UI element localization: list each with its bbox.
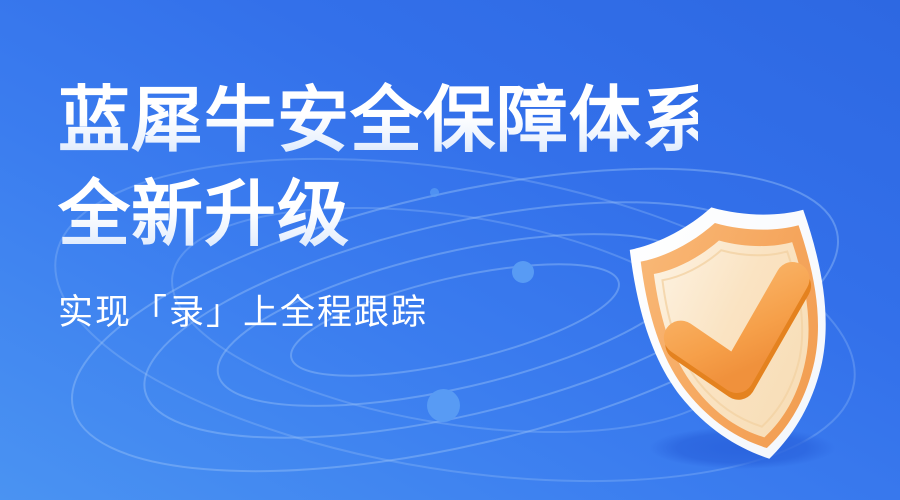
decorative-dot-large: [427, 389, 460, 422]
headline-line-1: 蓝犀牛安全保障体系: [58, 72, 698, 170]
promo-banner: 蓝犀牛安全保障体系 全新升级 实现「录」上全程跟踪: [0, 0, 900, 500]
shield-illustration: [596, 196, 886, 486]
shield-check-icon: [596, 196, 886, 486]
